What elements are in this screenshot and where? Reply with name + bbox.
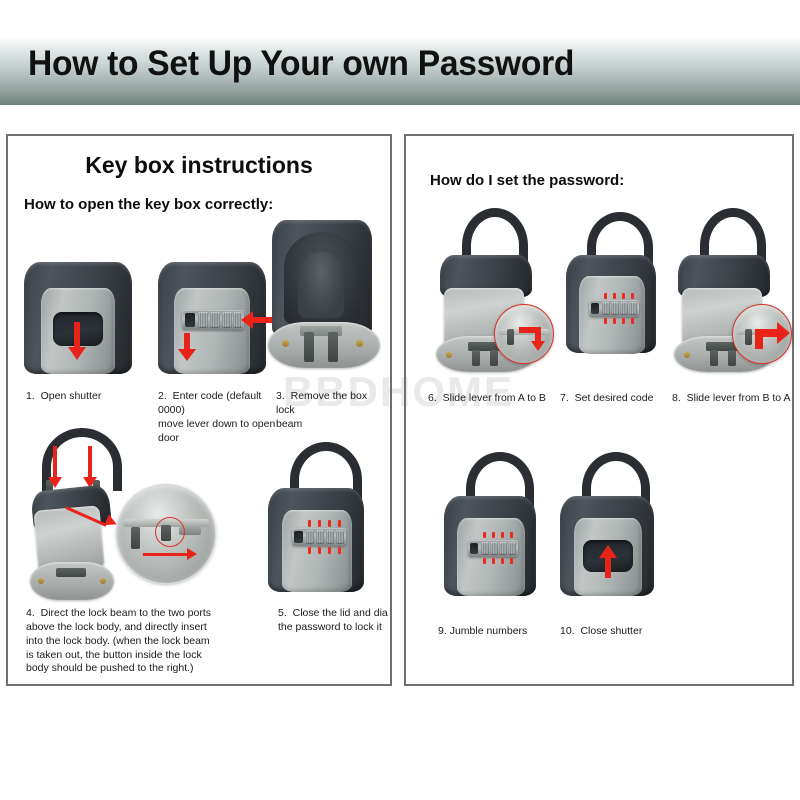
caption-step-5: 5. Close the lid and diathe password to …	[278, 607, 388, 635]
caption-step-4: 4. Direct the lock beam to the two ports…	[26, 607, 216, 676]
dial-wheel-1	[306, 530, 314, 544]
caption-step-1: 1. Open shutter	[26, 390, 136, 404]
caption-step-7: 7. Set desired code	[560, 392, 668, 406]
dial-wheel-1	[198, 312, 208, 328]
magnifier-inset-step-8	[732, 304, 792, 364]
dial-wheel-4	[336, 530, 344, 544]
code-lever	[185, 313, 195, 327]
lock-face	[457, 518, 525, 596]
dial-wheel-4	[629, 302, 637, 315]
caption-step-8: 8. Slide lever from B to A	[672, 392, 794, 406]
screw-left	[684, 352, 690, 358]
highlight-circle	[155, 517, 185, 547]
latch-prong-left	[304, 332, 314, 362]
lock-face	[282, 510, 352, 592]
caption-step-3: 3. Remove the box lockbeam	[276, 390, 384, 432]
dial-assembly	[292, 528, 346, 546]
screw-right	[356, 340, 363, 347]
code-lever	[294, 531, 303, 543]
magnifier-inset-step-4	[116, 484, 216, 584]
lock-face	[174, 288, 250, 374]
latch-prong-right	[328, 332, 338, 362]
dial-wheel-2	[490, 542, 498, 555]
screw-left	[446, 352, 452, 358]
code-lever	[591, 303, 599, 314]
dial-wheel-3	[620, 302, 628, 315]
shackle-channel	[298, 252, 344, 318]
dial-wheel-3	[326, 530, 334, 544]
caption-step-6: 6. Slide lever from A to B	[428, 392, 548, 406]
latch-prong-left	[710, 350, 718, 366]
dial-assembly	[182, 310, 244, 330]
dial-wheel-4	[508, 542, 516, 555]
instruction-sheet: How to Set Up Your own Password BBDHOME …	[0, 0, 800, 800]
latch-plate	[56, 568, 86, 577]
screw-left	[282, 340, 289, 347]
dial-wheel-1	[481, 542, 489, 555]
screw-left	[38, 578, 44, 584]
latch-prong-right	[728, 350, 736, 366]
dial-wheel-3	[222, 312, 232, 328]
dial-assembly	[468, 540, 518, 557]
code-lever	[470, 543, 478, 554]
dial-wheel-2	[611, 302, 619, 315]
caption-step-10: 10. Close shutter	[560, 625, 670, 639]
latch-prong-right	[490, 350, 498, 366]
dial-assembly	[589, 300, 639, 317]
page-title: How to Set Up Your own Password	[28, 44, 574, 84]
caption-step-2: 2. Enter code (default 0000)move lever d…	[158, 390, 280, 445]
dial-wheel-2	[210, 312, 220, 328]
screw-right	[100, 578, 106, 584]
latch-prong-left	[472, 350, 480, 366]
dial-wheel-3	[499, 542, 507, 555]
caption-step-9: 9. Jumble numbers	[438, 625, 548, 639]
dial-wheel-1	[602, 302, 610, 315]
magnifier-inset-step-6	[494, 304, 554, 364]
dial-wheel-2	[316, 530, 324, 544]
